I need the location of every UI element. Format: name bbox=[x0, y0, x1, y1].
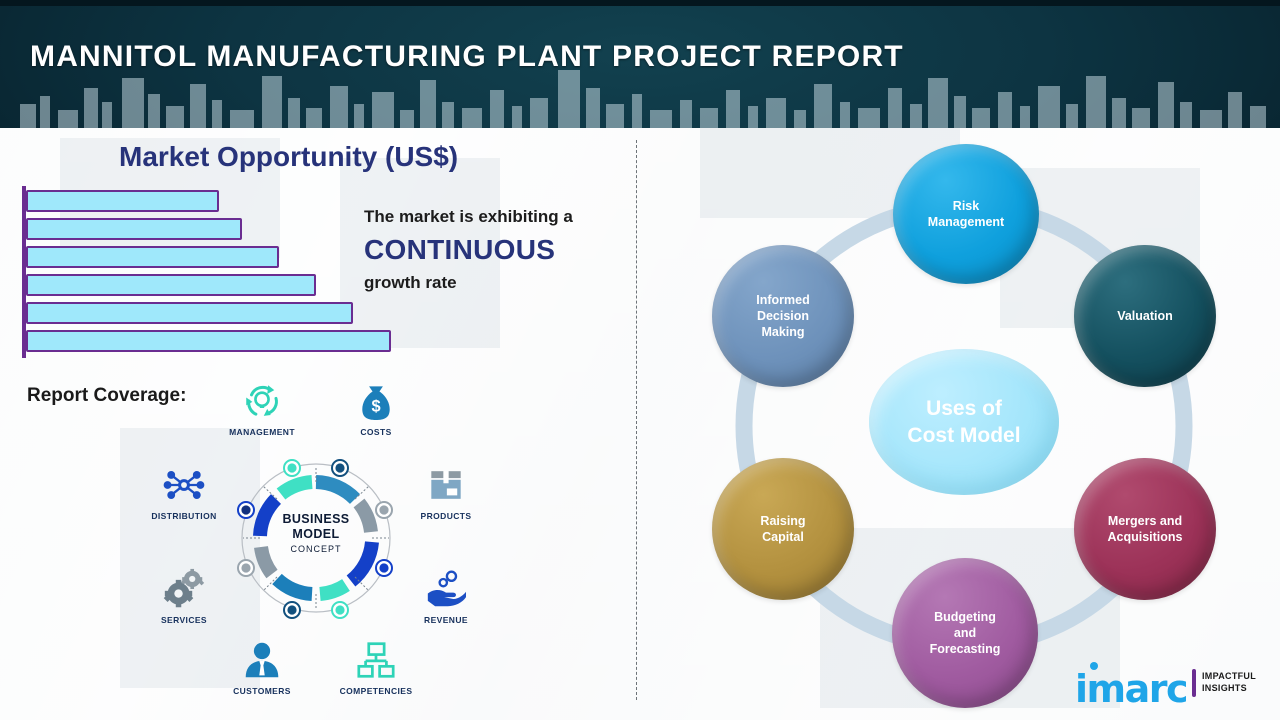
node-line: and bbox=[930, 625, 1001, 641]
bar-row bbox=[26, 330, 391, 352]
coverage-item-label: COMPETENCIES bbox=[328, 686, 424, 696]
node-line: Informed bbox=[756, 292, 809, 308]
growth-note: The market is exhibiting a CONTINUOUS gr… bbox=[364, 206, 634, 294]
package-box-icon bbox=[398, 462, 494, 508]
node-line: Management bbox=[928, 214, 1004, 230]
node-budgeting-forecasting[interactable]: Budgeting and Forecasting bbox=[892, 558, 1038, 708]
bar-row bbox=[26, 218, 242, 240]
page-title: MANNITOL MANUFACTURING PLANT PROJECT REP… bbox=[30, 40, 904, 74]
bar-row bbox=[26, 302, 353, 324]
header-banner: MANNITOL MANUFACTURING PLANT PROJECT REP… bbox=[0, 0, 1280, 128]
network-nodes-icon bbox=[136, 462, 232, 508]
coverage-item-revenue: REVENUE bbox=[398, 566, 494, 625]
bar-row bbox=[26, 246, 279, 268]
node-risk-management[interactable]: Risk Management bbox=[893, 144, 1039, 284]
header-top-strip bbox=[0, 0, 1280, 6]
money-bag-icon: $ bbox=[328, 378, 424, 424]
center-node-line1: Uses of bbox=[907, 395, 1020, 422]
logo-separator bbox=[1192, 669, 1196, 697]
growth-note-line1: The market is exhibiting a bbox=[364, 206, 634, 228]
bar-row bbox=[26, 190, 219, 212]
coverage-item-label: SERVICES bbox=[136, 615, 232, 625]
node-raising-capital[interactable]: Raising Capital bbox=[712, 458, 854, 600]
gears-icon bbox=[136, 566, 232, 612]
node-line: Decision bbox=[756, 308, 809, 324]
imarc-logo[interactable]: imarc IMPACTFUL INSIGHTS bbox=[1075, 661, 1275, 709]
logo-tagline-line2: INSIGHTS bbox=[1202, 683, 1247, 693]
node-line: Capital bbox=[760, 529, 805, 545]
coverage-item-products: PRODUCTS bbox=[398, 462, 494, 521]
recycle-lightbulb-icon bbox=[214, 378, 310, 424]
svg-text:$: $ bbox=[371, 397, 380, 415]
logo-tagline-line1: IMPACTFUL bbox=[1202, 671, 1256, 681]
org-chart-icon bbox=[328, 637, 424, 683]
node-valuation[interactable]: Valuation bbox=[1074, 245, 1216, 387]
coverage-item-label: DISTRIBUTION bbox=[136, 511, 232, 521]
logo-wordmark: imarc bbox=[1075, 667, 1187, 711]
growth-note-emphasis: CONTINUOUS bbox=[364, 228, 634, 272]
coverage-item-distribution: DISTRIBUTION bbox=[136, 462, 232, 521]
market-opportunity-bar-chart bbox=[22, 186, 402, 358]
node-line: Mergers and bbox=[1107, 513, 1182, 529]
coverage-item-costs: $ COSTS bbox=[328, 378, 424, 437]
person-user-icon bbox=[214, 637, 310, 683]
report-coverage-label: Report Coverage: bbox=[27, 385, 186, 407]
coverage-item-services: SERVICES bbox=[136, 566, 232, 625]
coverage-item-label: CUSTOMERS bbox=[214, 686, 310, 696]
center-node: Uses of Cost Model bbox=[869, 349, 1059, 495]
node-line: Valuation bbox=[1117, 308, 1173, 324]
coverage-item-label: COSTS bbox=[328, 427, 424, 437]
node-informed-decision-making[interactable]: Informed Decision Making bbox=[712, 245, 854, 387]
coverage-item-customers: CUSTOMERS bbox=[214, 637, 310, 696]
node-line: Risk bbox=[928, 198, 1004, 214]
coverage-item-label: MANAGEMENT bbox=[214, 427, 310, 437]
node-line: Acquisitions bbox=[1107, 529, 1182, 545]
coverage-item-label: REVENUE bbox=[398, 615, 494, 625]
coverage-item-management: MANAGEMENT bbox=[214, 378, 310, 437]
panel-divider bbox=[636, 140, 637, 700]
slide-root: MANNITOL MANUFACTURING PLANT PROJECT REP… bbox=[0, 0, 1280, 720]
bar-row bbox=[26, 274, 316, 296]
growth-note-line3: growth rate bbox=[364, 272, 634, 294]
business-model-wheel: BUSINESS MODEL CONCEPT bbox=[232, 452, 400, 632]
node-line: Raising bbox=[760, 513, 805, 529]
center-node-line2: Cost Model bbox=[907, 422, 1020, 449]
node-line: Making bbox=[756, 324, 809, 340]
node-line: Budgeting bbox=[930, 609, 1001, 625]
coverage-item-label: PRODUCTS bbox=[398, 511, 494, 521]
coverage-item-competencies: COMPETENCIES bbox=[328, 637, 424, 696]
node-mergers-acquisitions[interactable]: Mergers and Acquisitions bbox=[1074, 458, 1216, 600]
hand-coins-icon bbox=[398, 566, 494, 612]
market-opportunity-title: Market Opportunity (US$) bbox=[119, 141, 458, 173]
node-line: Forecasting bbox=[930, 641, 1001, 657]
